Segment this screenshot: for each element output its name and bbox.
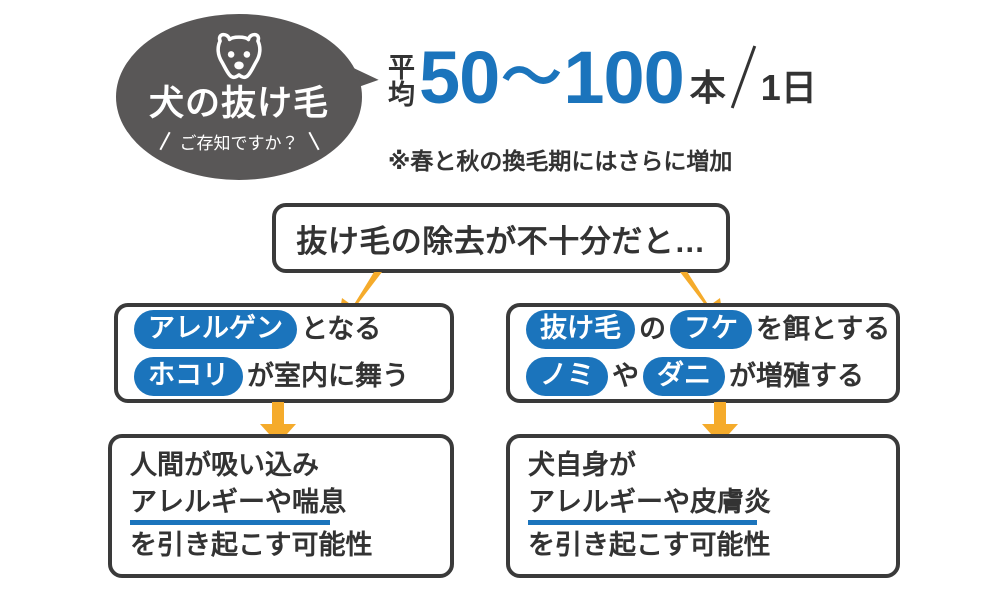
headline: 平 均 50 〜 100 本 1日 bbox=[388, 44, 817, 112]
speech-bubble: 犬の抜け毛 ご存知ですか？ bbox=[116, 14, 362, 180]
flow-mid-left-box: アレルゲン となる ホコリ が室内に舞う bbox=[114, 303, 454, 403]
mid-right-line1-sep: の bbox=[639, 316, 666, 343]
average-label-line2: 均 bbox=[388, 82, 415, 108]
bot-left-line2: アレルギーや喘息 bbox=[112, 487, 346, 526]
flow-bot-left-box: 人間が吸い込み アレルギーや喘息 を引き起こす可能性 bbox=[108, 434, 454, 578]
mid-right-line2-tail: が増殖する bbox=[729, 363, 864, 390]
mid-left-line1-tail: となる bbox=[301, 316, 381, 343]
flow-top-box-text: 抜け毛の除去が不十分だと… bbox=[296, 216, 706, 261]
bubble-title: 犬の抜け毛 bbox=[149, 86, 329, 123]
separator-slash-icon bbox=[731, 46, 756, 109]
mid-right-line2-sep: や bbox=[612, 363, 639, 390]
unit-label: 本 bbox=[690, 70, 726, 106]
mid-left-line2-tail: が室内に舞う bbox=[247, 363, 409, 390]
flow-mid-right-box: 抜け毛 の フケ を餌とする ノミ や ダニ が増殖する bbox=[506, 303, 900, 403]
value-to: 100 bbox=[563, 44, 683, 112]
bot-left-line3: を引き起こす可能性 bbox=[112, 530, 372, 562]
per-day-label: 1日 bbox=[761, 70, 817, 106]
bubble-subtitle-row: ご存知ですか？ bbox=[156, 129, 323, 154]
bot-right-line3: を引き起こす可能性 bbox=[510, 530, 770, 562]
flow-top-box: 抜け毛の除去が不十分だと… bbox=[272, 203, 730, 273]
average-label-line1: 平 bbox=[388, 55, 415, 81]
pill-dust: ホコリ bbox=[134, 357, 243, 396]
pill-dandruff: フケ bbox=[670, 310, 752, 349]
bubble-subtitle: ご存知ですか？ bbox=[180, 129, 299, 154]
pill-flea: ノミ bbox=[526, 357, 608, 396]
pill-allergen: アレルゲン bbox=[134, 310, 297, 349]
range-symbol: 〜 bbox=[501, 49, 561, 106]
dog-face-icon bbox=[207, 30, 271, 82]
slash-right-icon bbox=[305, 132, 323, 150]
bot-right-line2: アレルギーや皮膚炎 bbox=[510, 487, 771, 526]
infographic-canvas: 犬の抜け毛 ご存知ですか？ 平 均 50 〜 100 本 1日 ※春と秋の換毛期… bbox=[0, 0, 1000, 600]
pill-shed-hair: 抜け毛 bbox=[526, 310, 635, 349]
slash-left-icon bbox=[156, 132, 174, 150]
flow-bot-right-box: 犬自身が アレルギーや皮膚炎 を引き起こす可能性 bbox=[506, 434, 900, 578]
mid-right-line1-tail: を餌とする bbox=[756, 316, 890, 343]
bot-left-line1: 人間が吸い込み bbox=[112, 450, 319, 482]
flow-mid-right-line1: 抜け毛 の フケ を餌とする bbox=[510, 310, 894, 349]
value-from: 50 bbox=[419, 44, 499, 112]
average-label: 平 均 bbox=[388, 55, 415, 108]
flow-mid-left-line2: ホコリ が室内に舞う bbox=[118, 357, 413, 396]
flow-mid-right-line2: ノミ や ダニ が増殖する bbox=[510, 357, 868, 396]
flow-mid-left-line1: アレルゲン となる bbox=[118, 310, 385, 349]
bot-right-line1: 犬自身が bbox=[510, 450, 636, 482]
pill-mite: ダニ bbox=[643, 357, 725, 396]
headline-note: ※春と秋の換毛期にはさらに増加 bbox=[388, 142, 732, 176]
